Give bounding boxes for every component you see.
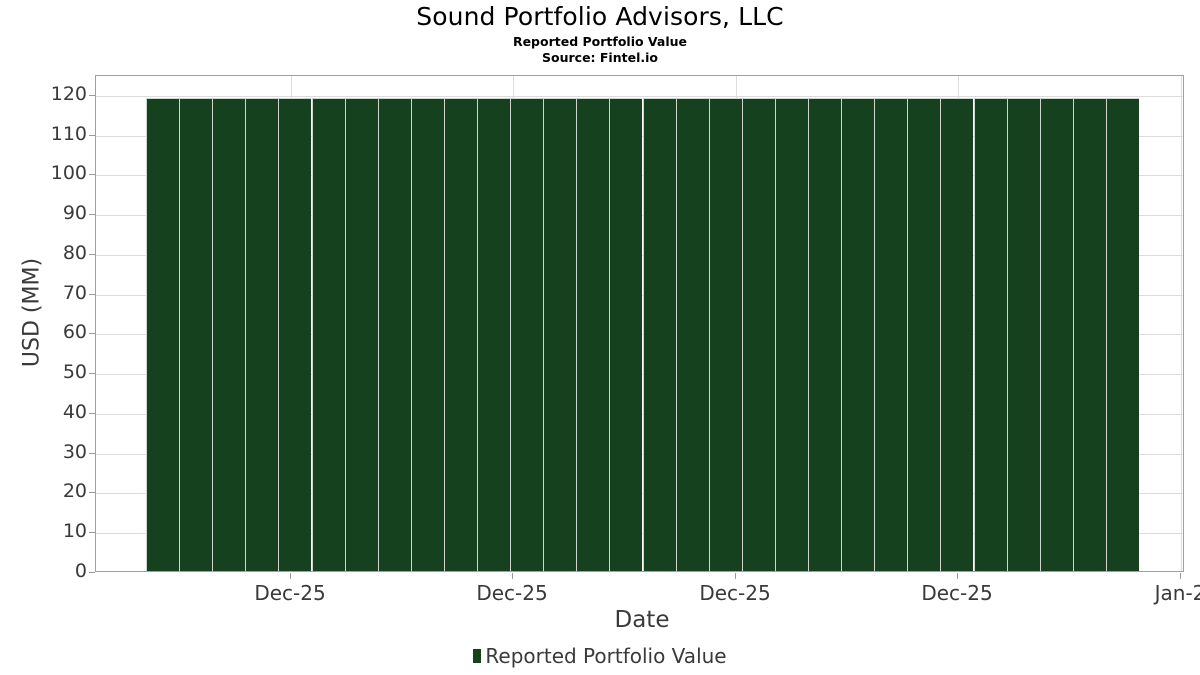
legend-item[interactable]: Reported Portfolio Value: [473, 645, 726, 667]
chart-title: Sound Portfolio Advisors, LLC: [0, 2, 1200, 32]
legend-label: Reported Portfolio Value: [485, 645, 726, 667]
x-tick-mark: [290, 573, 291, 579]
bar[interactable]: [940, 98, 973, 571]
bar[interactable]: [907, 98, 940, 571]
bar[interactable]: [278, 98, 311, 571]
y-tick-label: 40: [7, 403, 87, 422]
bar[interactable]: [1106, 98, 1139, 571]
bar[interactable]: [245, 98, 278, 571]
bar[interactable]: [841, 98, 874, 571]
bar[interactable]: [345, 98, 378, 571]
y-tick-label: 0: [7, 562, 87, 581]
bar[interactable]: [974, 98, 1007, 571]
x-tick-mark: [512, 573, 513, 579]
bar[interactable]: [146, 98, 179, 571]
y-tick-label: 90: [7, 204, 87, 223]
x-tick-label: Dec-25: [432, 581, 592, 605]
x-tick-mark: [957, 573, 958, 579]
y-tick-label: 120: [7, 85, 87, 104]
bar[interactable]: [808, 98, 841, 571]
chart-source-note: Source: Fintel.io: [0, 50, 1200, 66]
bar[interactable]: [609, 98, 642, 571]
chart-title-block: Sound Portfolio Advisors, LLC Reported P…: [0, 2, 1200, 66]
bar[interactable]: [874, 98, 907, 571]
x-axis-title: Date: [0, 607, 1200, 633]
bar[interactable]: [742, 98, 775, 571]
bar[interactable]: [676, 98, 709, 571]
bar[interactable]: [312, 98, 345, 571]
bar[interactable]: [510, 98, 543, 571]
x-tick-label: Dec-25: [877, 581, 1037, 605]
x-tick-mark: [735, 573, 736, 579]
chart-subtitle: Reported Portfolio Value: [0, 34, 1200, 50]
y-tick-label: 80: [7, 244, 87, 263]
x-tick-label: Dec-25: [655, 581, 815, 605]
y-tick-label: 60: [7, 323, 87, 342]
bar[interactable]: [212, 98, 245, 571]
y-tick-label: 10: [7, 522, 87, 541]
bar[interactable]: [444, 98, 477, 571]
y-tick-label: 100: [7, 164, 87, 183]
y-tick-label: 70: [7, 284, 87, 303]
bar[interactable]: [643, 98, 676, 571]
bar-series-reported-portfolio-value: [96, 76, 1183, 571]
x-tick-mark: [1180, 573, 1181, 579]
bar[interactable]: [543, 98, 576, 571]
bar[interactable]: [411, 98, 444, 571]
bar[interactable]: [1073, 98, 1106, 571]
bar[interactable]: [477, 98, 510, 571]
x-tick-label: Dec-25: [210, 581, 370, 605]
bar[interactable]: [179, 98, 212, 571]
x-tick-label: Jan-2: [1100, 581, 1200, 605]
y-tick-mark: [89, 572, 95, 573]
bar[interactable]: [775, 98, 808, 571]
bar[interactable]: [576, 98, 609, 571]
chart-figure: Sound Portfolio Advisors, LLC Reported P…: [0, 0, 1200, 675]
chart-legend: Reported Portfolio Value: [0, 645, 1200, 667]
bar[interactable]: [1007, 98, 1040, 571]
bar[interactable]: [1040, 98, 1073, 571]
y-tick-label: 50: [7, 363, 87, 382]
y-tick-label: 20: [7, 482, 87, 501]
plot-area: [95, 75, 1184, 572]
y-tick-label: 30: [7, 443, 87, 462]
bar[interactable]: [378, 98, 411, 571]
bar[interactable]: [709, 98, 742, 571]
legend-swatch-icon: [473, 649, 481, 663]
y-tick-label: 110: [7, 125, 87, 144]
